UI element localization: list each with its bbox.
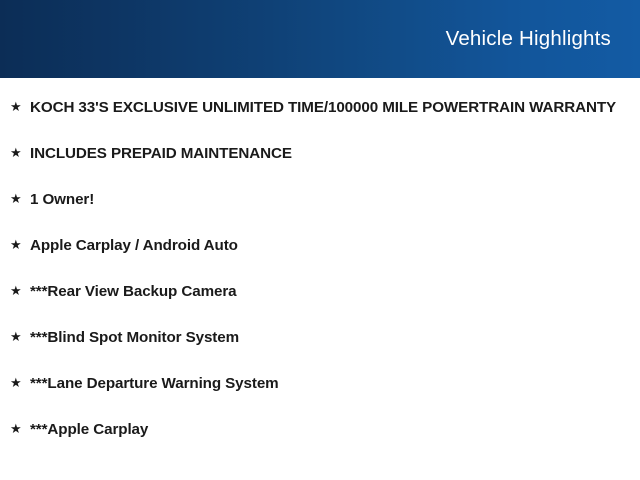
list-item: ★ INCLUDES PREPAID MAINTENANCE xyxy=(0,142,640,166)
list-item-label: ***Apple Carplay xyxy=(30,418,618,442)
list-item-label: Apple Carplay / Android Auto xyxy=(30,234,618,258)
list-item: ★ KOCH 33'S EXCLUSIVE UNLIMITED TIME/100… xyxy=(0,96,640,120)
list-item-label: INCLUDES PREPAID MAINTENANCE xyxy=(30,142,618,166)
star-icon: ★ xyxy=(10,188,30,212)
list-item-label: ***Rear View Backup Camera xyxy=(30,280,618,304)
star-icon: ★ xyxy=(10,142,30,166)
list-item: ★ ***Blind Spot Monitor System xyxy=(0,326,640,350)
star-icon: ★ xyxy=(10,372,30,396)
list-item: ★ Apple Carplay / Android Auto xyxy=(0,234,640,258)
list-item-label: ***Lane Departure Warning System xyxy=(30,372,618,396)
vehicle-highlights-page: Vehicle Highlights ★ KOCH 33'S EXCLUSIVE… xyxy=(0,0,640,480)
list-item: ★ 1 Owner! xyxy=(0,188,640,212)
star-icon: ★ xyxy=(10,418,30,442)
list-item-label: ***Blind Spot Monitor System xyxy=(30,326,618,350)
star-icon: ★ xyxy=(10,280,30,304)
list-item-label: KOCH 33'S EXCLUSIVE UNLIMITED TIME/10000… xyxy=(30,96,618,120)
list-item: ★ ***Lane Departure Warning System xyxy=(0,372,640,396)
page-title: Vehicle Highlights xyxy=(446,29,611,50)
star-icon: ★ xyxy=(10,234,30,258)
star-icon: ★ xyxy=(10,326,30,350)
list-item: ★ ***Apple Carplay xyxy=(0,418,640,442)
header-banner: Vehicle Highlights xyxy=(0,0,640,78)
list-item: ★ ***Rear View Backup Camera xyxy=(0,280,640,304)
star-icon: ★ xyxy=(10,96,30,120)
vehicle-highlights-list: ★ KOCH 33'S EXCLUSIVE UNLIMITED TIME/100… xyxy=(0,96,640,442)
list-item-label: 1 Owner! xyxy=(30,188,618,212)
